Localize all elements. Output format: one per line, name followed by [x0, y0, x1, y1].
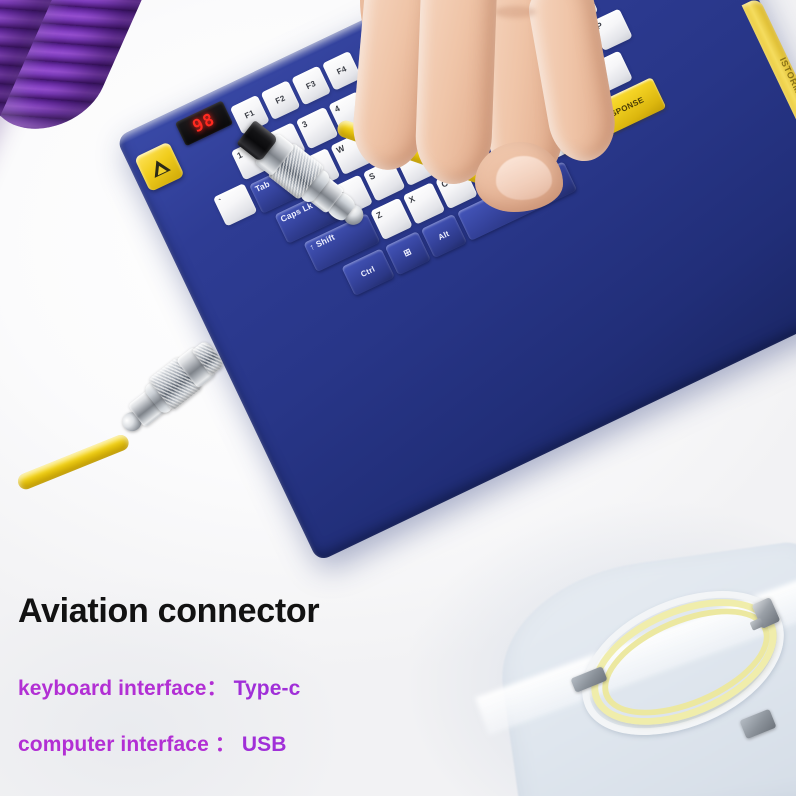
triangle-icon [148, 156, 171, 177]
spec-computer-value: USB [236, 733, 287, 756]
spec-keyboard-interface: keyboard interface：Type-c [18, 672, 300, 702]
knuckle-crease-2 [494, 6, 536, 18]
spec-keyboard-label: keyboard interface： [18, 677, 228, 700]
spec-computer-interface: computer interface ：USB [18, 728, 287, 758]
page-title: Aviation connector [18, 592, 319, 631]
hand [300, 0, 600, 190]
spec-keyboard-value: Type-c [228, 677, 301, 700]
spec-computer-label: computer interface ： [18, 733, 236, 756]
product-photo-scene: ISTORMER 98 F1 F2 F3 F4 F5 F6 F7 F8 F9 F… [0, 0, 796, 796]
thumbnail [496, 156, 552, 200]
